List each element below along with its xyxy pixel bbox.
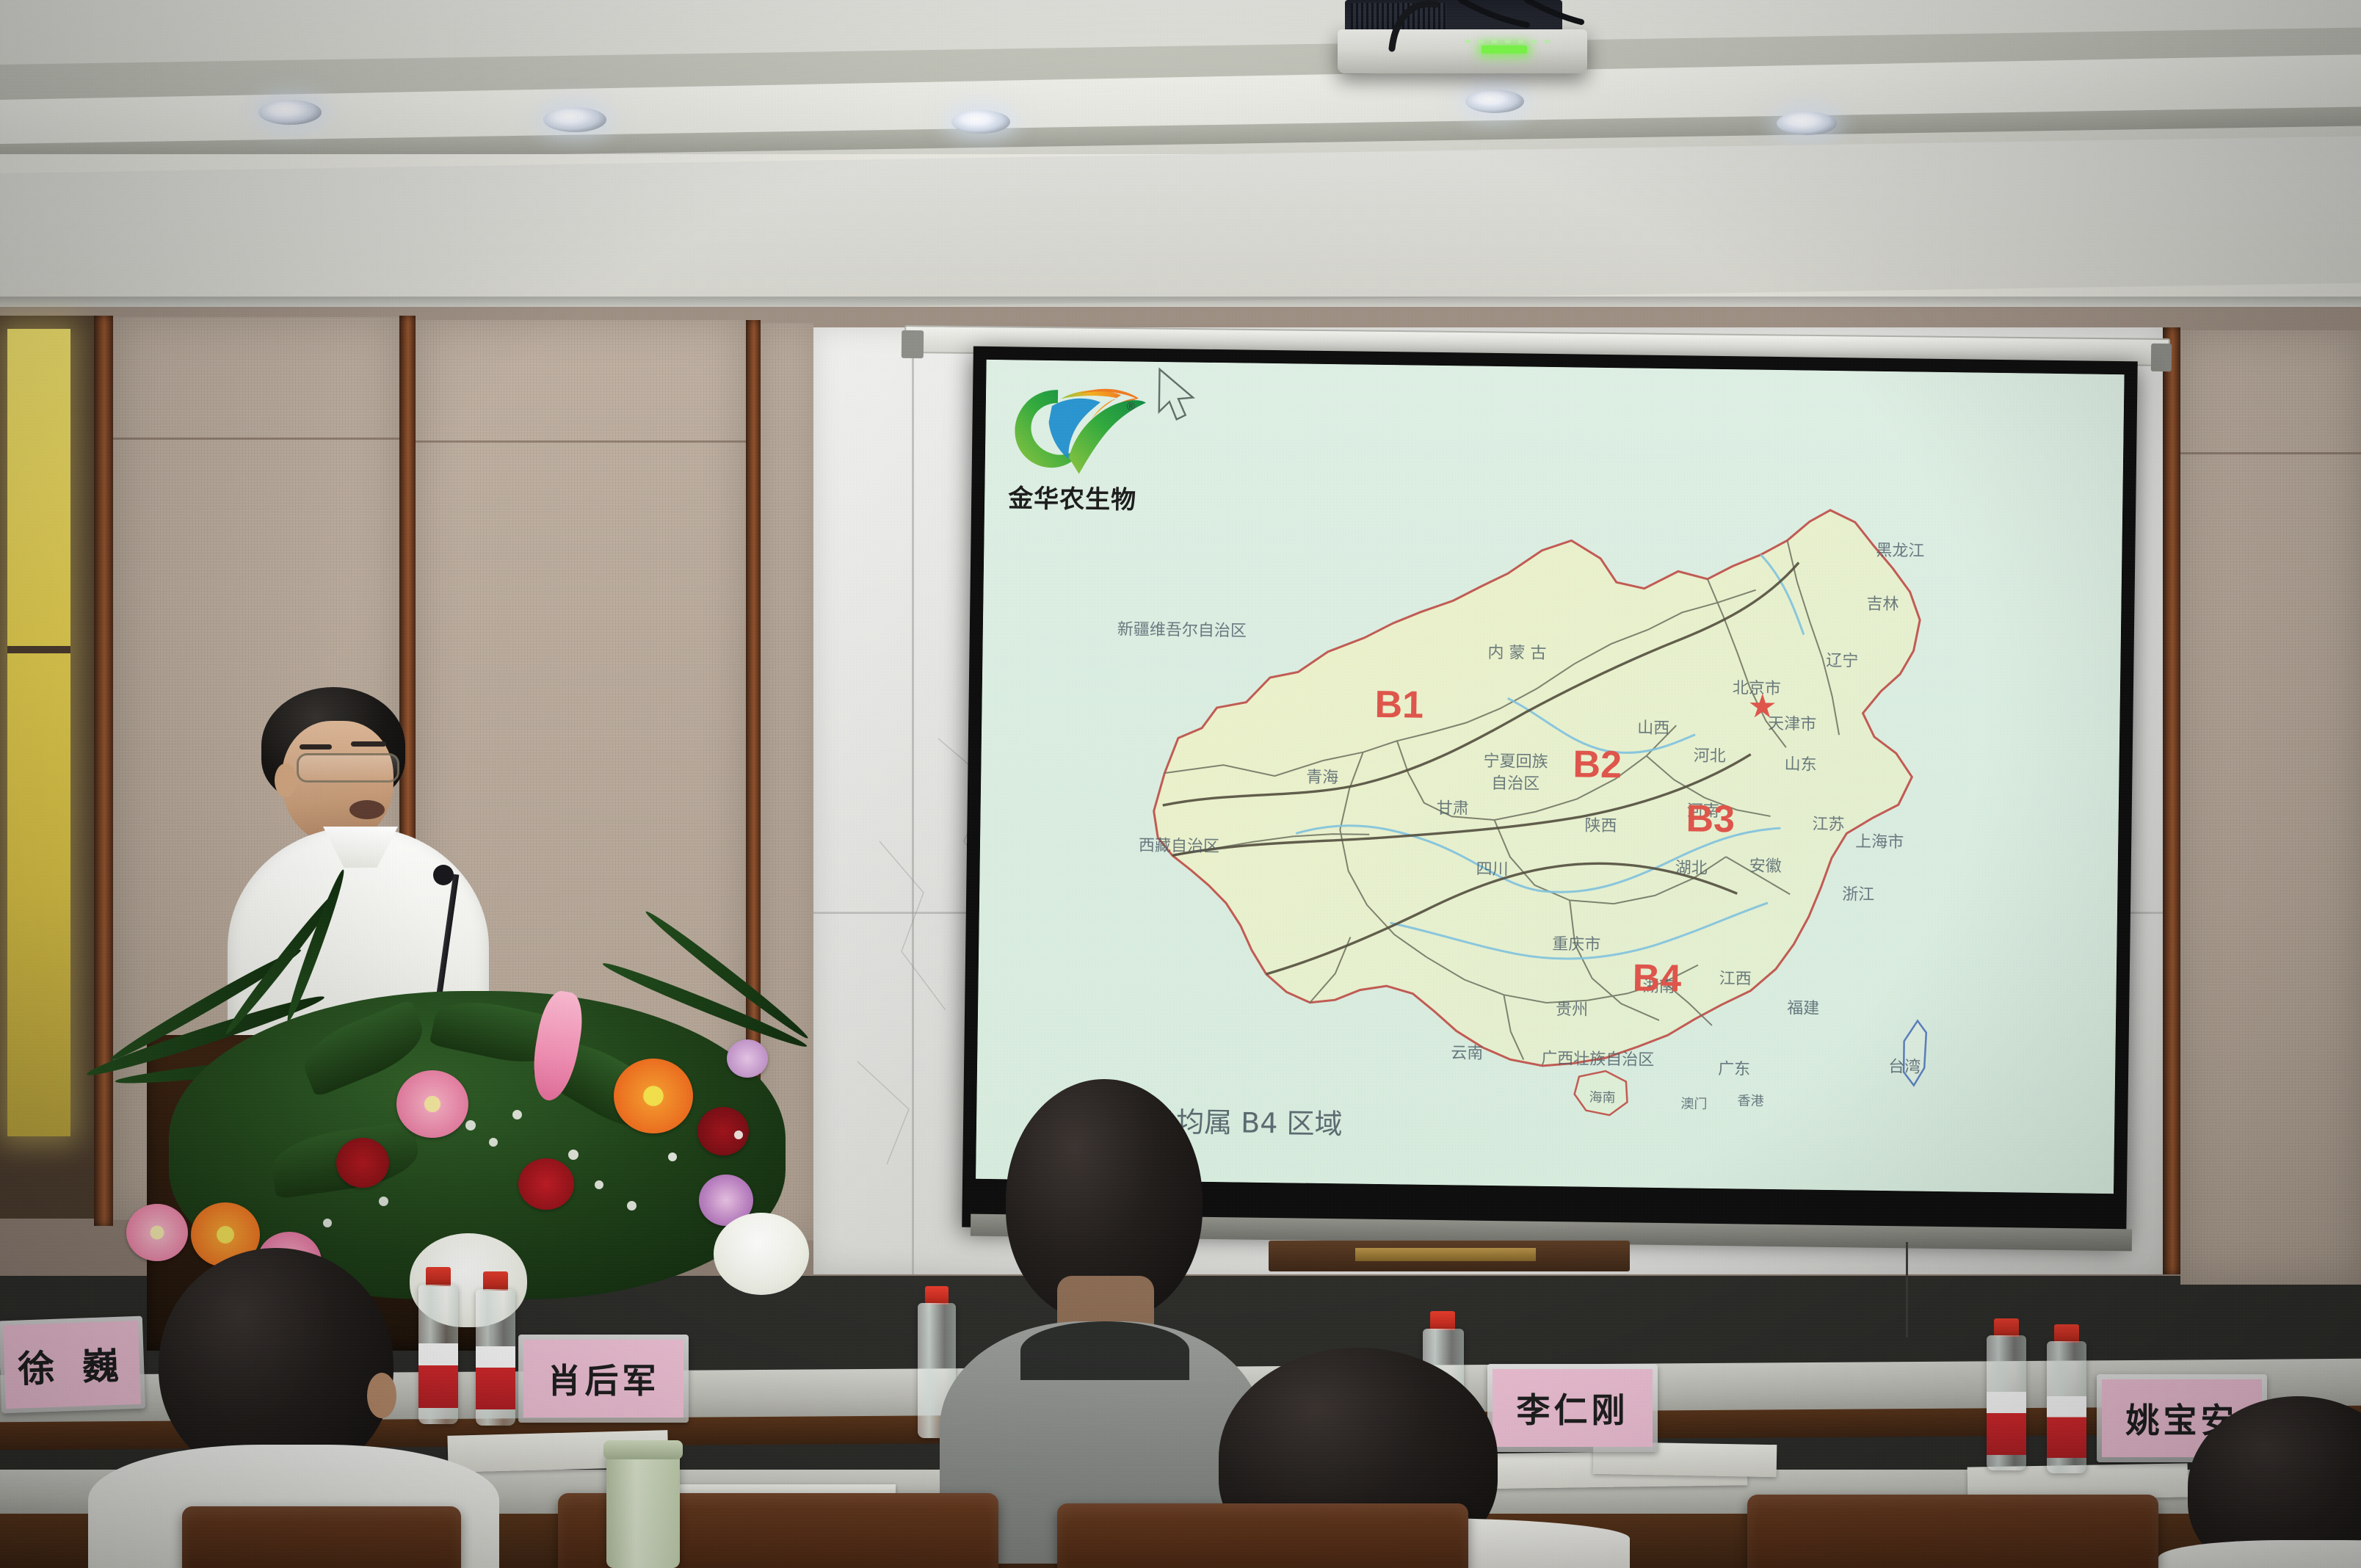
ceiling-downlight-3	[951, 110, 1010, 134]
map-label-jiangsu: 江苏	[1812, 816, 1844, 835]
front-left-attendee-ear	[367, 1373, 396, 1418]
map-label-gansu: 甘肃	[1437, 799, 1469, 819]
map-label-shanghai: 上海市	[1855, 832, 1904, 852]
map-label-yunnan: 云南	[1451, 1044, 1483, 1063]
wall-panel-seam-1	[113, 438, 399, 440]
map-label-heilongjiang: 黑龙江	[1876, 542, 1924, 561]
bottle-label-5	[1987, 1392, 2026, 1455]
purple-chrysanthemum-2	[727, 1039, 768, 1078]
wood-trim-post-4	[2163, 327, 2180, 1274]
speaker-eyebrow-right	[351, 741, 386, 747]
window-light-panel	[7, 329, 70, 1136]
thermos-cup-lid	[603, 1440, 683, 1459]
pink-gerbera-1	[396, 1070, 468, 1138]
babys-breath-10	[734, 1130, 743, 1139]
map-label-hainan: 海南	[1589, 1090, 1615, 1106]
map-label-jilin: 吉林	[1866, 595, 1898, 614]
chair-back-3[interactable]	[1747, 1495, 2158, 1568]
projection-screen-surface[interactable]: ★ 新疆维吾尔自治区 西藏自治区 青海 内 蒙 古 宁夏回族 自治区 甘肃 山西…	[976, 360, 2124, 1194]
map-label-hebei: 河北	[1694, 747, 1726, 766]
bottle-cap-5	[1994, 1318, 2019, 1337]
map-label-inner-mongolia: 内 蒙 古	[1487, 644, 1546, 663]
babys-breath-3	[512, 1110, 522, 1119]
map-label-ningxia: 宁夏回族	[1483, 752, 1548, 772]
brand-logo: ® 金华农生物	[1008, 376, 1156, 510]
map-label-guangxi: 广西壮族自治区	[1541, 1050, 1654, 1070]
map-label-zhejiang: 浙江	[1842, 885, 1874, 904]
bottle-cap-4	[1430, 1311, 1455, 1330]
chair-back-4[interactable]	[182, 1506, 461, 1568]
map-label-hongkong: 香港	[1737, 1093, 1763, 1108]
projector-signal-cables	[1417, 0, 1608, 44]
ceiling-downlight-2	[543, 107, 606, 132]
screen-case-endcap-right	[2151, 344, 2172, 371]
speaker-ear	[275, 763, 297, 797]
white-lily-2	[714, 1213, 809, 1295]
zone-label-b3: B3	[1686, 797, 1735, 841]
orange-gerbera-1	[614, 1059, 693, 1133]
map-label-shaanxi: 陕西	[1584, 817, 1617, 836]
zone-label-b4: B4	[1632, 957, 1681, 1000]
map-label-sichuan: 四川	[1476, 860, 1508, 879]
water-bottle-5[interactable]	[1984, 1318, 2029, 1470]
screen-brand-plate	[1355, 1248, 1536, 1261]
map-label-taiwan: 台湾	[1888, 1058, 1921, 1077]
registered-trademark-icon: ®	[1127, 400, 1135, 413]
speaker-face	[282, 721, 393, 844]
map-label-hubei: 湖北	[1675, 859, 1708, 878]
map-label-macau: 澳门	[1680, 1096, 1707, 1111]
window-mullion	[7, 646, 70, 653]
brand-logo-text: 金华农生物	[1008, 478, 1156, 516]
conference-room-photo: ★ 新疆维吾尔自治区 西藏自治区 青海 内 蒙 古 宁夏回族 自治区 甘肃 山西…	[0, 0, 2361, 1568]
map-label-tianjin: 天津市	[1768, 715, 1816, 734]
zone-label-b1: B1	[1374, 683, 1424, 727]
map-label-beijing: 北京市	[1733, 679, 1781, 698]
microphone-head	[433, 865, 454, 885]
map-label-guizhou: 贵州	[1556, 1001, 1588, 1020]
red-rose-2	[518, 1158, 574, 1210]
babys-breath-6	[627, 1201, 637, 1211]
babys-breath-9	[323, 1219, 332, 1227]
map-label-ningxia2: 自治区	[1491, 774, 1539, 794]
nameplate-xiao-houjun: 肖后军	[523, 1340, 683, 1418]
bottle-label-6	[2047, 1396, 2086, 1458]
map-label-guangdong: 广东	[1718, 1060, 1750, 1079]
screen-case-endcap-left	[902, 330, 924, 358]
map-label-liaoning: 辽宁	[1826, 652, 1858, 671]
map-label-tibet: 西藏自治区	[1139, 837, 1219, 856]
map-label-fujian: 福建	[1787, 999, 1819, 1018]
nameplate-holder-2: 肖后军	[518, 1335, 689, 1423]
thermos-cup[interactable]	[606, 1448, 680, 1568]
babys-breath-5	[595, 1180, 603, 1189]
water-bottle-6[interactable]	[2044, 1324, 2089, 1473]
projector-status-led	[1481, 46, 1527, 54]
babys-breath-2	[489, 1138, 498, 1147]
babys-breath-7	[668, 1153, 677, 1161]
map-label-chongqing: 重庆市	[1552, 935, 1600, 954]
ceiling-downlight-4	[1465, 90, 1524, 113]
wall-panel-4	[2180, 330, 2361, 1285]
zone-label-b2: B2	[1573, 743, 1622, 786]
far-right-attendee	[2158, 1396, 2361, 1568]
brand-logo-mark: ®	[1009, 376, 1150, 474]
far-right-attendee-shirt	[2158, 1540, 2361, 1568]
map-label-qinghai: 青海	[1306, 769, 1338, 788]
map-label-xinjiang: 新疆维吾尔自治区	[1117, 620, 1247, 640]
map-label-anhui: 安徽	[1749, 857, 1782, 876]
map-label-jiangxi: 江西	[1719, 970, 1752, 989]
red-rose-1	[336, 1138, 389, 1188]
ceiling-downlight-1	[258, 100, 322, 125]
screen-pull-cord	[1906, 1242, 1908, 1337]
bottle-cap-6	[2054, 1324, 2079, 1343]
map-label-shandong: 山东	[1784, 755, 1816, 774]
mouse-pointer-arrow-icon	[1153, 366, 1205, 433]
speaker-eyebrow-left	[300, 744, 332, 749]
speaker-mouth	[349, 800, 385, 819]
babys-breath-4	[568, 1150, 579, 1160]
map-label-shanxi: 山西	[1637, 719, 1669, 738]
ceiling-downlight-5	[1777, 112, 1837, 135]
speaker-eyeglasses	[297, 753, 399, 783]
babys-breath-8	[379, 1197, 388, 1206]
chair-back-2[interactable]	[1057, 1503, 1468, 1568]
wall-panel-seam-4	[2180, 452, 2361, 454]
babys-breath-1	[465, 1120, 476, 1130]
wall-panel-seam-2	[416, 440, 746, 443]
